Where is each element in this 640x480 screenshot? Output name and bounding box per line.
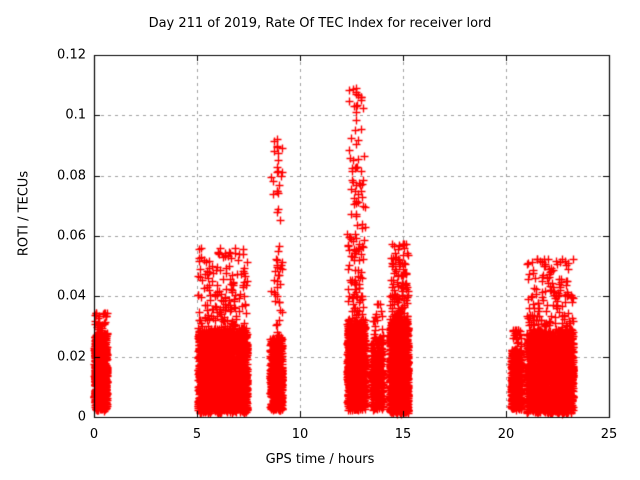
- scatter-plot-canvas: [0, 0, 640, 480]
- x-tick-label: 5: [193, 427, 201, 442]
- y-tick-label: 0.06: [6, 229, 86, 244]
- x-tick-label: 15: [395, 427, 412, 442]
- chart-figure: Day 211 of 2019, Rate Of TEC Index for r…: [0, 0, 640, 480]
- x-tick-label: 10: [292, 427, 309, 442]
- y-tick-label: 0.08: [6, 168, 86, 183]
- x-tick-label: 20: [498, 427, 515, 442]
- y-tick-label: 0.02: [6, 349, 86, 364]
- x-tick-label: 0: [90, 427, 98, 442]
- x-tick-label: 25: [601, 427, 618, 442]
- y-tick-label: 0: [6, 410, 86, 425]
- y-tick-label: 0.1: [6, 108, 86, 123]
- y-tick-label: 0.04: [6, 289, 86, 304]
- y-tick-label: 0.12: [6, 48, 86, 63]
